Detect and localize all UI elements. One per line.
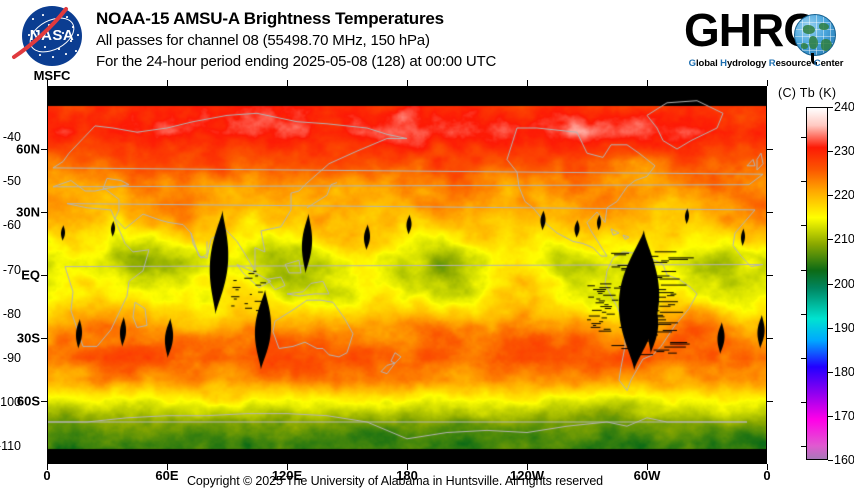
y-axis-tick <box>767 212 773 213</box>
globe-landmass <box>821 39 832 51</box>
colorbar-header: (C) Tb (K) <box>778 86 854 100</box>
y-axis-label: EQ <box>21 268 40 283</box>
y-axis-label: 30S <box>17 331 40 346</box>
globe-landmass <box>819 23 829 30</box>
page-subtitle-channel: All passes for channel 08 (55498.70 MHz,… <box>96 30 496 51</box>
ghrc-subtitle: Global Hydrology Resource Center <box>686 58 846 69</box>
colorbar-gradient <box>806 107 828 460</box>
x-axis-tick <box>767 80 768 86</box>
colorbar-label-celsius: -110 <box>0 439 21 453</box>
colorbar-tick-kelvin <box>828 284 833 285</box>
nasa-red-swoosh-icon <box>6 5 70 67</box>
colorbar-label-celsius: -90 <box>3 351 21 365</box>
globe-landmass <box>801 43 808 49</box>
colorbar-label-celsius: -80 <box>3 307 21 321</box>
colorbar-tick-celsius <box>801 358 806 359</box>
y-axis-tick <box>767 338 773 339</box>
y-axis-tick <box>41 401 47 402</box>
colorbar-label-celsius: -40 <box>3 130 21 144</box>
colorbar-tick-celsius <box>801 402 806 403</box>
ghrc-logo: GHRC Global Hydrology Resource Center <box>684 6 848 76</box>
y-axis-tick <box>767 401 773 402</box>
y-axis-label: 30N <box>16 205 40 220</box>
colorbar-tick-celsius <box>801 270 806 271</box>
colorbar-label-kelvin: 170 <box>834 409 854 423</box>
colorbar-tick-kelvin <box>828 460 833 461</box>
y-axis-tick <box>767 275 773 276</box>
page-subtitle-period: For the 24-hour period ending 2025-05-08… <box>96 51 496 72</box>
colorbar-label-kelvin: 190 <box>834 321 854 335</box>
globe-parallel <box>794 29 836 30</box>
colorbar-tick-kelvin <box>828 328 833 329</box>
y-axis-tick <box>41 338 47 339</box>
colorbar-label-kelvin: 210 <box>834 232 854 246</box>
colorbar-label-celsius: -100 <box>0 395 21 409</box>
plot-frame-border <box>47 86 767 464</box>
x-axis-tick <box>287 80 288 86</box>
x-axis-tick <box>47 80 48 86</box>
title-block: NOAA-15 AMSU-A Brightness Temperatures A… <box>96 8 496 72</box>
y-axis-tick <box>41 149 47 150</box>
nasa-star <box>75 50 77 52</box>
colorbar-tick-kelvin <box>828 239 833 240</box>
map-plot-area: 060E120E180120W60W060N30NEQ30S60S <box>47 86 767 464</box>
globe-landmass <box>809 36 818 49</box>
colorbar-tick-kelvin <box>828 372 833 373</box>
page-title: NOAA-15 AMSU-A Brightness Temperatures <box>96 8 496 30</box>
colorbar-tick-kelvin <box>828 151 833 152</box>
colorbar-tick-celsius <box>801 181 806 182</box>
y-axis-tick <box>41 275 47 276</box>
x-axis-tick <box>167 80 168 86</box>
y-axis-tick <box>41 212 47 213</box>
colorbar-label-celsius: -70 <box>3 263 21 277</box>
copyright-notice: Copyright © 2025 The University of Alaba… <box>0 474 790 488</box>
x-axis-tick <box>407 80 408 86</box>
colorbar-tick-kelvin <box>828 416 833 417</box>
colorbar-tick-celsius <box>801 225 806 226</box>
colorbar-tick-celsius <box>801 137 806 138</box>
colorbar-tick-celsius <box>801 446 806 447</box>
colorbar-label-kelvin: 230 <box>834 144 854 158</box>
colorbar-label-celsius: -50 <box>3 174 21 188</box>
colorbar-tick-kelvin <box>828 107 833 108</box>
nasa-center-label: MSFC <box>8 68 96 83</box>
x-axis-tick <box>647 80 648 86</box>
colorbar-label-celsius: -60 <box>3 218 21 232</box>
ghrc-globe-icon <box>794 14 836 56</box>
colorbar-label-kelvin: 220 <box>834 188 854 202</box>
colorbar-tick-kelvin <box>828 195 833 196</box>
colorbar <box>806 107 828 460</box>
colorbar-label-kelvin: 180 <box>834 365 854 379</box>
colorbar-tick-celsius <box>801 314 806 315</box>
colorbar-label-kelvin: 240 <box>834 100 854 114</box>
y-axis-tick <box>767 149 773 150</box>
x-axis-tick <box>527 80 528 86</box>
globe-landmass <box>803 25 815 34</box>
colorbar-label-kelvin: 160 <box>834 453 854 467</box>
colorbar-label-kelvin: 200 <box>834 277 854 291</box>
nasa-logo: NASA MSFC <box>8 6 92 84</box>
globe-parallel <box>794 22 836 23</box>
